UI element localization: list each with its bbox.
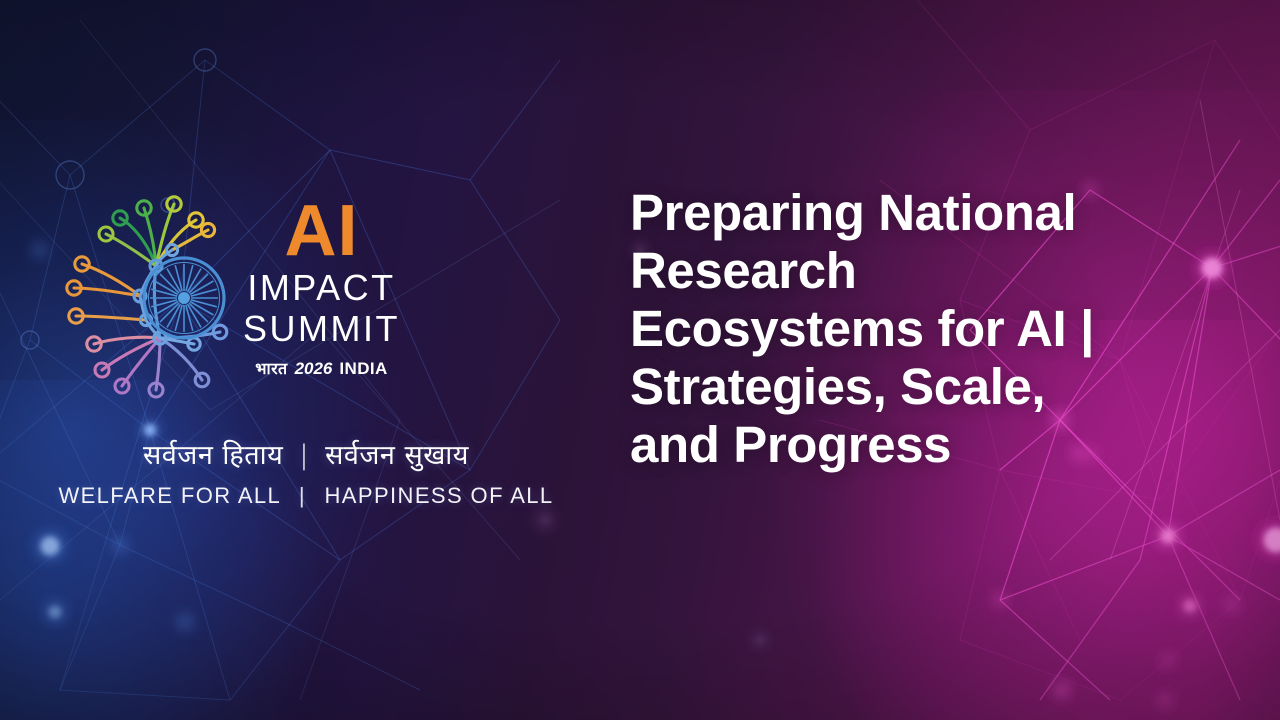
headline-line-1: Preparing National: [630, 184, 1230, 242]
wordmark-bharat: भारत: [255, 357, 287, 379]
tagline-english: WELFARE FOR ALL | HAPPINESS OF ALL: [56, 483, 556, 509]
wordmark-india: INDIA: [339, 359, 387, 379]
tagline-english-left: WELFARE FOR ALL: [58, 483, 280, 508]
wordmark-bharat-year-india: भारत 2026 INDIA: [255, 357, 387, 379]
slide-headline: Preparing National Research Ecosystems f…: [630, 184, 1230, 473]
headline-line-3: Ecosystems for AI |: [630, 300, 1230, 358]
headline-line-5: and Progress: [630, 416, 1230, 474]
tagline-sanskrit-left: सर्वजन हिताय: [143, 440, 283, 471]
tagline-block: सर्वजन हिताय | सर्वजन सुखाय WELFARE FOR …: [56, 435, 556, 509]
tagline-separator-english: |: [288, 483, 317, 508]
tagline-separator-sanskrit: |: [292, 440, 316, 471]
tagline-sanskrit: सर्वजन हिताय | सर्वजन सुखाय: [56, 435, 556, 472]
headline-line-2: Research: [630, 242, 1230, 300]
summit-logo-block: AI IMPACT SUMMIT भारत 2026 INDIA सर्वजन …: [56, 178, 556, 509]
ai-dendrite-chakra-emblem: [56, 178, 241, 403]
headline-line-4: Strategies, Scale,: [630, 358, 1230, 416]
summit-wordmark: AI IMPACT SUMMIT भारत 2026 INDIA: [243, 198, 400, 382]
title-slide: AI IMPACT SUMMIT भारत 2026 INDIA सर्वजन …: [0, 0, 1280, 720]
tagline-english-right: HAPPINESS OF ALL: [325, 483, 554, 508]
wordmark-year: 2026: [295, 359, 333, 379]
wordmark-impact: IMPACT: [247, 267, 395, 309]
wordmark-ai: AI: [284, 198, 358, 264]
wordmark-summit: SUMMIT: [243, 309, 400, 349]
tagline-sanskrit-right: सर्वजन सुखाय: [325, 440, 469, 471]
